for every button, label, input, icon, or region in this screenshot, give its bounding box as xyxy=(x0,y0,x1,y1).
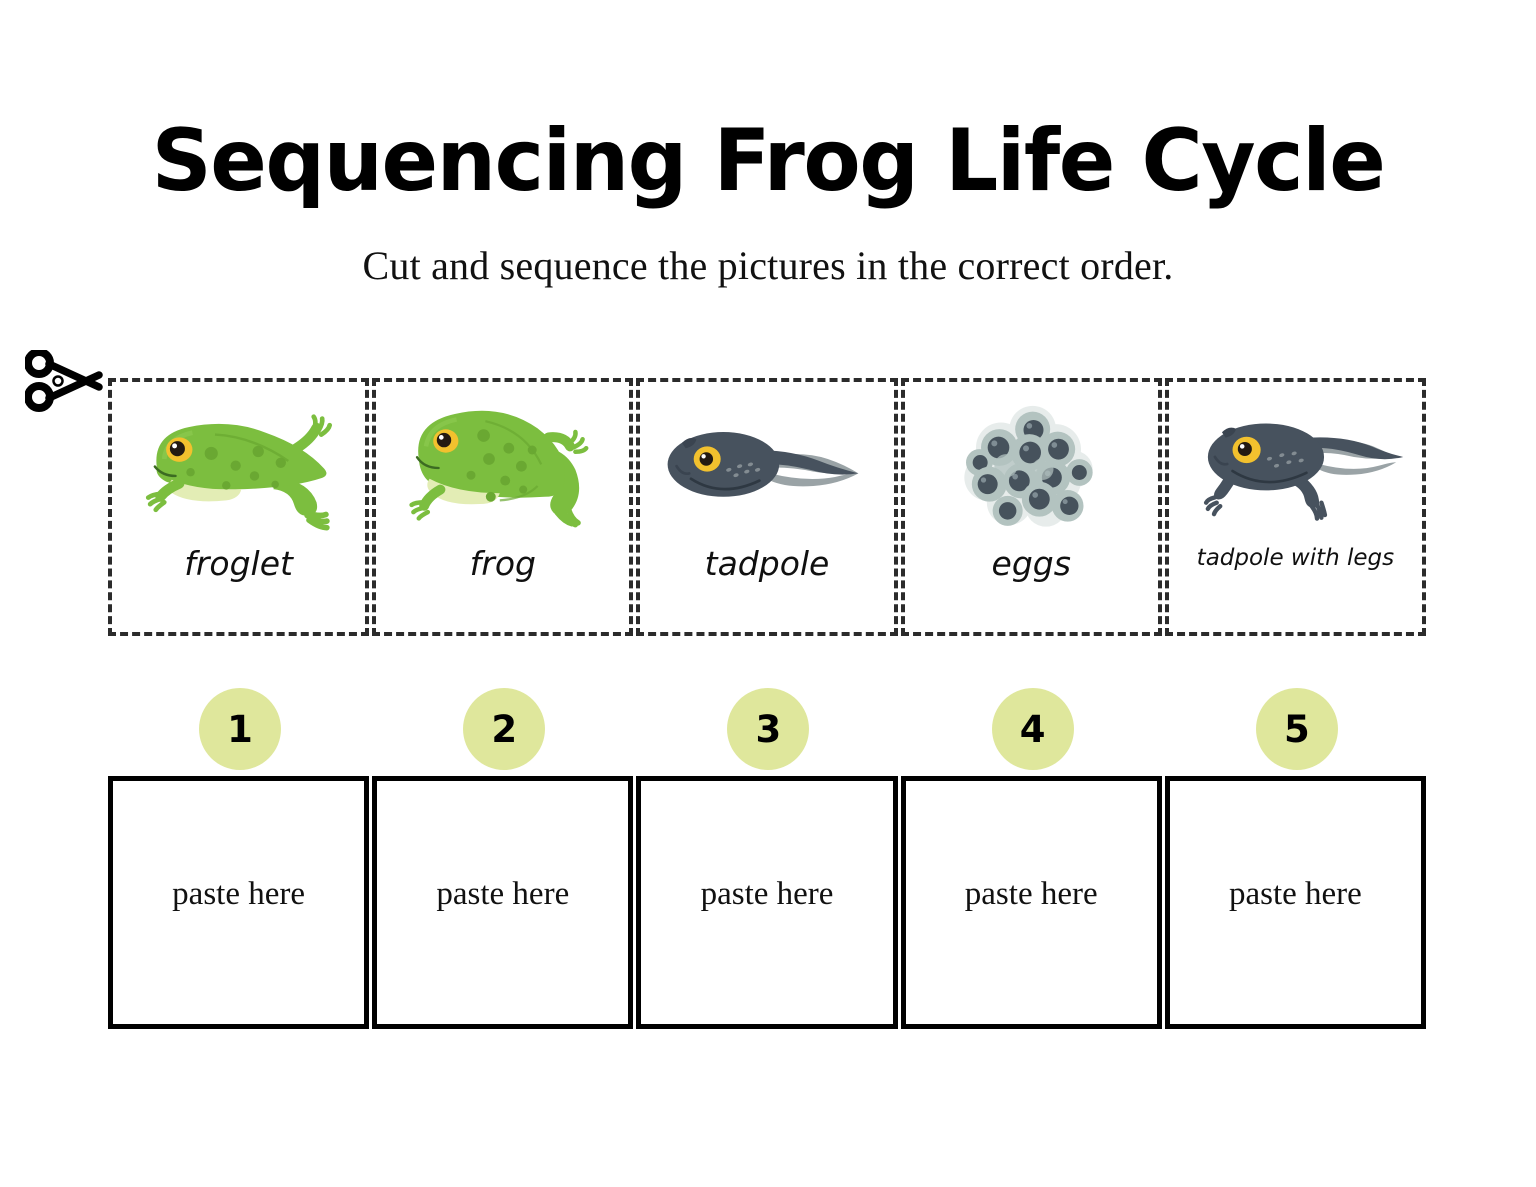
sequence-number-cell: 3 xyxy=(636,684,897,774)
froglet-illustration xyxy=(112,382,365,547)
paste-box-4[interactable]: paste here xyxy=(901,776,1162,1029)
paste-box-label: paste here xyxy=(436,876,569,913)
tadpole-with-legs-illustration xyxy=(1169,382,1422,547)
cut-out-cards-row: froglet xyxy=(108,378,1426,636)
paste-boxes-row: paste here paste here paste here paste h… xyxy=(108,776,1426,1029)
sequence-number-cell: 5 xyxy=(1165,684,1426,774)
sequence-number-badge: 3 xyxy=(727,688,809,770)
sequence-number-cell: 4 xyxy=(901,684,1162,774)
cut-card-froglet[interactable]: froglet xyxy=(108,378,369,636)
worksheet-header: Sequencing Frog Life Cycle Cut and seque… xyxy=(0,0,1536,289)
sequence-number-cell: 2 xyxy=(372,684,633,774)
sequence-number-cell: 1 xyxy=(108,684,369,774)
paste-box-label: paste here xyxy=(965,876,1098,913)
sequence-number-badge: 4 xyxy=(992,688,1074,770)
sequence-numbers-row: 1 2 3 4 5 xyxy=(108,684,1426,774)
cut-card-label: eggs xyxy=(992,547,1071,580)
scissors-icon xyxy=(25,350,105,412)
paste-box-label: paste here xyxy=(1229,876,1362,913)
paste-box-1[interactable]: paste here xyxy=(108,776,369,1029)
frog-eggs-illustration xyxy=(905,382,1158,547)
paste-box-label: paste here xyxy=(172,876,305,913)
cut-card-label: tadpole with legs xyxy=(1197,547,1394,570)
paste-box-3[interactable]: paste here xyxy=(636,776,897,1029)
cut-card-label: froglet xyxy=(184,547,293,580)
cut-card-label: tadpole xyxy=(705,547,830,580)
cut-card-tadpole[interactable]: tadpole xyxy=(636,378,897,636)
sequence-number-badge: 2 xyxy=(463,688,545,770)
sequence-number-badge: 1 xyxy=(199,688,281,770)
cut-card-frog[interactable]: frog xyxy=(372,378,633,636)
cut-card-tadpole-with-legs[interactable]: tadpole with legs xyxy=(1165,378,1426,636)
page-subtitle: Cut and sequence the pictures in the cor… xyxy=(0,204,1536,289)
page-title: Sequencing Frog Life Cycle xyxy=(23,118,1513,204)
paste-box-5[interactable]: paste here xyxy=(1165,776,1426,1029)
sequence-number-badge: 5 xyxy=(1256,688,1338,770)
paste-box-2[interactable]: paste here xyxy=(372,776,633,1029)
tadpole-illustration xyxy=(640,382,893,547)
cut-card-eggs[interactable]: eggs xyxy=(901,378,1162,636)
cut-card-label: frog xyxy=(470,547,536,580)
paste-box-label: paste here xyxy=(701,876,834,913)
frog-illustration xyxy=(376,382,629,547)
